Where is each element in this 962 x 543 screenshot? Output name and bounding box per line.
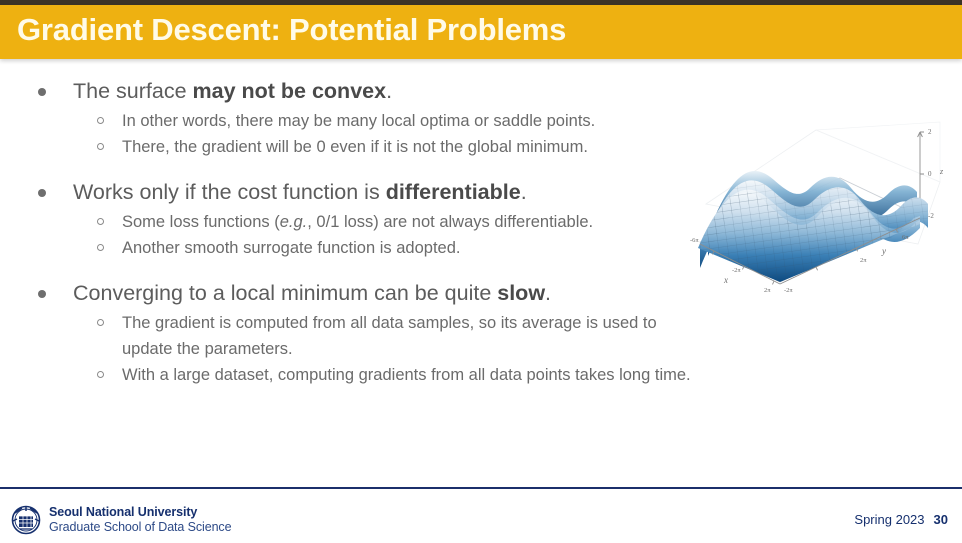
bullet-level2: Another smooth surrogate function is ado…: [0, 235, 700, 261]
bullet-ring-icon: [97, 371, 104, 378]
term-label: Spring 2023: [854, 512, 924, 527]
title-band: Gradient Descent: Potential Problems: [0, 5, 962, 59]
subbullet-text-emphasis: e.g.: [280, 213, 308, 231]
subbullet-text-tail: , 0/1 loss) are not always differentiabl…: [307, 213, 593, 231]
page-number: 30: [934, 512, 948, 527]
subbullet-text: The gradient is computed from all data s…: [122, 314, 657, 358]
bullet-level2: The gradient is computed from all data s…: [0, 310, 700, 362]
subbullet-text: There, the gradient will be 0 even if it…: [122, 138, 588, 156]
bullet-level2: In other words, there may be many local …: [0, 108, 700, 134]
y-axis-label: y: [881, 246, 886, 256]
footer-divider: [0, 487, 962, 489]
slide: Gradient Descent: Potential Problems The…: [0, 0, 962, 543]
bullet-group: Works only if the cost function is diffe…: [0, 177, 700, 261]
bullet-ring-icon: [97, 244, 104, 251]
bullet-text-prefix: Converging to a local minimum can be qui…: [73, 281, 497, 305]
bullet-text-bold: slow: [497, 281, 545, 305]
bullet-dot-icon: [38, 189, 46, 197]
bullet-ring-icon: [97, 319, 104, 326]
z-axis-label: z: [939, 167, 944, 176]
bullet-level1: Converging to a local minimum can be qui…: [0, 278, 700, 308]
subbullet-text: In other words, there may be many local …: [122, 112, 595, 130]
bullet-list: The surface may not be convex. In other …: [0, 76, 700, 405]
bullet-level1: Works only if the cost function is diffe…: [0, 177, 700, 207]
surface-mesh: [698, 171, 928, 282]
bullet-text-bold: differentiable: [386, 180, 521, 204]
bullet-dot-icon: [38, 290, 46, 298]
snu-logo: [8, 501, 44, 537]
z-tick-2: 2: [928, 128, 932, 136]
bullet-level1: The surface may not be convex.: [0, 76, 700, 106]
bullet-ring-icon: [97, 218, 104, 225]
subbullet-text: With a large dataset, computing gradient…: [122, 366, 691, 384]
non-convex-surface-plot: 2 0 -2 z -6π -2π: [688, 96, 954, 294]
y-tick-6pi: 6π: [902, 234, 909, 241]
university-name: Seoul National University: [49, 505, 231, 520]
y-tick-neg2pi: -2π: [784, 287, 793, 294]
page-title: Gradient Descent: Potential Problems: [17, 12, 566, 48]
footer-meta: Spring 202330: [854, 512, 948, 527]
footer-institution: Seoul National University Graduate Schoo…: [49, 505, 231, 535]
z-tick-neg2: -2: [928, 212, 934, 220]
subbullet-text: Another smooth surrogate function is ado…: [122, 239, 460, 257]
school-name: Graduate School of Data Science: [49, 520, 231, 535]
bullet-level2: Some loss functions (e.g., 0/1 loss) are…: [0, 209, 700, 235]
bullet-dot-icon: [38, 88, 46, 96]
x-tick-neg2pi: -2π: [732, 267, 741, 274]
bullet-ring-icon: [97, 143, 104, 150]
bullet-text-prefix: The surface: [73, 79, 193, 103]
y-tick-2pi: 2π: [860, 257, 867, 264]
subbullet-text: Some loss functions (: [122, 213, 280, 231]
z-tick-0: 0: [928, 170, 932, 178]
bullet-level2: There, the gradient will be 0 even if it…: [0, 134, 700, 160]
x-axis-label: x: [723, 275, 728, 285]
bullet-ring-icon: [97, 117, 104, 124]
x-tick-2pi: 2π: [764, 287, 771, 294]
bullet-text-suffix: .: [545, 281, 551, 305]
bullet-group: Converging to a local minimum can be qui…: [0, 278, 700, 388]
z-tick-labels: 2 0 -2 z: [928, 128, 944, 220]
bullet-text-suffix: .: [521, 180, 527, 204]
bullet-text-bold: may not be convex: [193, 79, 387, 103]
x-tick-neg6pi: -6π: [690, 237, 699, 244]
bullet-text-suffix: .: [386, 79, 392, 103]
bullet-group: The surface may not be convex. In other …: [0, 76, 700, 160]
bullet-level2: With a large dataset, computing gradient…: [0, 362, 700, 388]
bullet-text-prefix: Works only if the cost function is: [73, 180, 386, 204]
